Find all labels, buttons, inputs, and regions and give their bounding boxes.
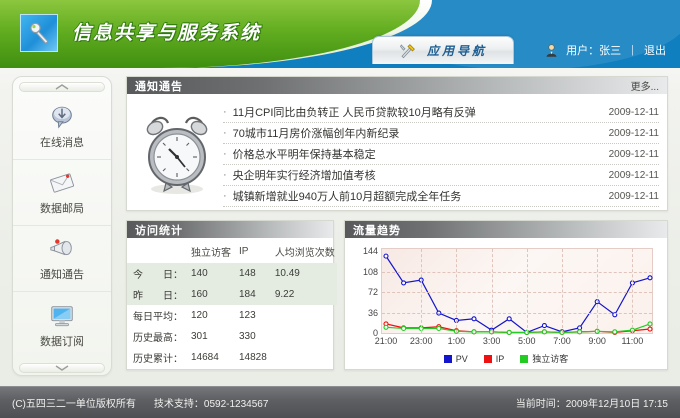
tab-app-navigation-label: 应用导航 [427,42,487,59]
row-per-visit: 10.49 [269,263,337,284]
x-axis-tick-label: 1:00 [448,336,466,346]
traffic-trend-panel: 流量趋势 0367210814421:0023:001:003:005:007:… [344,220,668,370]
footer-current-time: 当前时间：2009年12月10日 17:15 [516,395,668,410]
notice-panel-header: 通知通告 更多... [127,77,667,94]
chart-data-point [402,281,406,285]
table-row: 历史最高： 301 330 [127,326,337,347]
notice-item-date: 2009-12-11 [609,191,659,202]
notice-list: · 11月CPI同比由负转正 人民币贷款较10月略有反弹 2009-12-11 … [223,98,659,207]
grid-line-vertical [492,249,493,333]
sidebar-item-label: 数据订阅 [40,333,84,349]
legend-item[interactable]: IP [484,354,505,364]
y-axis-tick-label: 36 [368,308,378,318]
row-ip: 330 [233,326,269,347]
notice-item-date: 2009-12-11 [609,149,659,160]
chart-data-point [648,327,652,331]
table-header-row: 独立访客 IP 人均浏览次数 [127,241,337,263]
user-separator: | [628,44,637,56]
chart-data-point [613,330,617,334]
bullet-icon: · [223,148,227,160]
sidebar-item-notice[interactable]: 通知通告 [13,226,111,292]
row-label: 今 日： [127,263,185,284]
table-row: 每日平均： 120 123 [127,305,337,326]
bullet-icon: · [223,169,227,181]
row-per-visit [269,326,337,347]
tools-icon [399,42,417,60]
notice-item-text-wrap: · 央企明年实行经济增加值考核 [223,167,376,183]
app-logo [20,14,58,52]
grid-line-vertical [527,249,528,333]
x-axis-tick-label: 21:00 [375,336,398,346]
alarm-clock-icon [138,111,216,195]
grid-line-vertical [562,249,563,333]
footer-left-group: (C)五四三二一单位版权所有 技术支持：0592-1234567 [12,395,268,410]
legend-label: IP [496,354,505,364]
notice-item-date: 2009-12-11 [609,107,659,118]
row-ip: 148 [233,263,269,284]
notice-more-link[interactable]: 更多... [631,78,659,93]
alarm-clock-illustration [131,98,223,207]
user-avatar-icon [544,43,559,58]
notice-list-item[interactable]: · 70城市11月房价涨幅创年内新纪录 2009-12-11 [223,123,659,144]
chart-data-point [384,325,388,329]
bullet-icon: · [223,190,227,202]
chart-data-point [472,330,476,334]
app-footer: (C)五四三二一单位版权所有 技术支持：0592-1234567 当前时间：20… [0,386,680,418]
legend-swatch-icon [484,355,492,363]
y-axis-tick-label: 108 [363,267,378,277]
chevron-down-icon [54,364,70,372]
legend-label: PV [456,354,468,364]
notice-item-text-wrap: · 城镇新增就业940万人前10月超额完成全年任务 [223,188,461,204]
notice-panel-body: · 11月CPI同比由负转正 人民币贷款较10月略有反弹 2009-12-11 … [127,94,667,211]
row-visitors: 14684 [185,347,233,368]
grid-line-horizontal [382,313,652,314]
sidebar-items: 在线消息 数据邮局 [13,92,111,358]
notice-panel-title: 通知通告 [135,78,183,94]
col-header-per-visit: 人均浏览次数 [269,241,337,263]
x-axis-tick-label: 9:00 [588,336,606,346]
grid-line-horizontal [382,292,652,293]
visit-statistics-panel: 访问统计 独立访客 IP 人均浏览次数 今 日： 140 148 [126,220,334,370]
chart-line-PV [386,256,650,332]
tab-app-navigation[interactable]: 应用导航 [372,36,514,64]
sidebar: 在线消息 数据邮局 [12,76,112,376]
row-per-visit [269,305,337,326]
sidebar-item-label: 在线消息 [40,134,84,150]
user-name-label: 用户：张三 [566,42,621,58]
sidebar-collapse-up[interactable] [19,82,105,92]
chart-panel-header: 流量趋势 [345,221,667,238]
sidebar-item-data-post-office[interactable]: 数据邮局 [13,160,111,226]
col-header-visitors: 独立访客 [185,241,233,263]
row-label: 每日平均： [127,305,185,326]
notice-item-date: 2009-12-11 [609,128,659,139]
chart-data-point [507,317,511,321]
chat-bubble-icon [47,103,77,131]
x-axis-tick-label: 3:00 [483,336,501,346]
notice-item-title: 70城市11月房价涨幅创年内新纪录 [233,125,400,141]
visit-statistics-table: 独立访客 IP 人均浏览次数 今 日： 140 148 10.49 昨 日： 1 [127,241,337,368]
notice-list-item[interactable]: · 城镇新增就业940万人前10月超额完成全年任务 2009-12-11 [223,186,659,207]
sidebar-collapse-down[interactable] [19,363,105,373]
grid-line-vertical [421,249,422,333]
footer-copyright: (C)五四三二一单位版权所有 [12,395,136,410]
y-axis-tick-label: 72 [368,287,378,297]
notice-list-item[interactable]: · 价格总水平明年保持基本稳定 2009-12-11 [223,144,659,165]
legend-item[interactable]: PV [444,354,468,364]
row-visitors: 301 [185,326,233,347]
footer-support: 技术支持：0592-1234567 [154,395,269,410]
row-ip: 14828 [233,347,269,368]
col-header-blank [127,241,185,263]
notice-item-title: 央企明年实行经济增加值考核 [233,167,376,183]
bullet-icon: · [223,127,227,139]
user-area: 用户：张三 | 退出 [544,42,666,58]
chart-data-point [542,324,546,328]
application-window: 信息共享与服务系统 应用导航 用户：张三 | 退出 [0,0,680,418]
grid-line-vertical [597,249,598,333]
y-axis-tick-label: 144 [363,246,378,256]
grid-line-horizontal [382,272,652,273]
notice-item-text-wrap: · 70城市11月房价涨幅创年内新纪录 [223,125,399,141]
grid-line-vertical [632,249,633,333]
key-icon [28,21,52,45]
notice-list-item[interactable]: · 央企明年实行经济增加值考核 2009-12-11 [223,165,659,186]
row-ip: 184 [233,284,269,305]
chart-data-point [472,317,476,321]
stats-panel-header: 访问统计 [127,221,333,238]
chevron-up-icon [54,83,70,91]
table-row: 历史累计： 14684 14828 [127,347,337,368]
x-axis-tick-label: 7:00 [553,336,571,346]
legend-label: 独立访客 [532,352,568,365]
x-axis-tick-label: 23:00 [410,336,433,346]
legend-swatch-icon [444,355,452,363]
notice-list-item[interactable]: · 11月CPI同比由负转正 人民币贷款较10月略有反弹 2009-12-11 [223,102,659,123]
chart-data-point [542,330,546,334]
page-title: 信息共享与服务系统 [72,18,261,45]
notice-item-date: 2009-12-11 [609,170,659,181]
col-header-ip: IP [233,241,269,263]
chart-plot-area: 0367210814421:0023:001:003:005:007:009:0… [381,248,653,334]
sidebar-item-label: 数据邮局 [40,200,84,216]
x-axis-tick-label: 5:00 [518,336,536,346]
notice-item-title: 城镇新增就业940万人前10月超额完成全年任务 [233,188,462,204]
row-label: 历史最高： [127,326,185,347]
chart-data-point [648,276,652,280]
row-ip: 123 [233,305,269,326]
row-visitors: 120 [185,305,233,326]
row-per-visit: 9.22 [269,284,337,305]
table-row: 今 日： 140 148 10.49 [127,263,337,284]
megaphone-icon [47,235,77,263]
notice-item-title: 价格总水平明年保持基本稳定 [233,146,376,162]
stats-panel-title: 访问统计 [135,222,183,238]
monitor-icon [47,302,77,330]
chart-legend: PVIP独立访客 [345,352,667,365]
sidebar-item-label: 通知通告 [40,266,84,282]
row-visitors: 140 [185,263,233,284]
chart-data-point [578,330,582,334]
chart-data-point [437,326,441,330]
notice-item-text-wrap: · 11月CPI同比由负转正 人民币贷款较10月略有反弹 [223,104,476,120]
table-row: 昨 日： 160 184 9.22 [127,284,337,305]
app-header: 信息共享与服务系统 应用导航 用户：张三 | 退出 [0,0,680,68]
grid-line-vertical [456,249,457,333]
chart-data-point [507,330,511,334]
content-area: 在线消息 数据邮局 [0,68,680,386]
sidebar-item-online-message[interactable]: 在线消息 [13,94,111,160]
logout-link[interactable]: 退出 [644,42,666,58]
chart-data-point [384,254,388,258]
legend-item[interactable]: 独立访客 [520,352,568,365]
traffic-trend-chart: 0367210814421:0023:001:003:005:007:009:0… [345,238,667,369]
row-visitors: 160 [185,284,233,305]
x-axis-tick-label: 11:00 [621,336,643,346]
envelope-icon [47,169,77,197]
chart-data-point [648,322,652,326]
notice-item-title: 11月CPI同比由负转正 人民币贷款较10月略有反弹 [233,104,476,120]
row-per-visit [269,347,337,368]
row-label: 历史累计： [127,347,185,368]
chart-data-point [402,326,406,330]
chart-panel-title: 流量趋势 [353,222,401,238]
bullet-icon: · [223,106,227,118]
chart-data-point [578,326,582,330]
notice-panel: 通知通告 更多... [126,76,668,211]
notice-item-text-wrap: · 价格总水平明年保持基本稳定 [223,146,376,162]
row-label: 昨 日： [127,284,185,305]
legend-swatch-icon [520,355,528,363]
sidebar-item-data-subscription[interactable]: 数据订阅 [13,292,111,358]
